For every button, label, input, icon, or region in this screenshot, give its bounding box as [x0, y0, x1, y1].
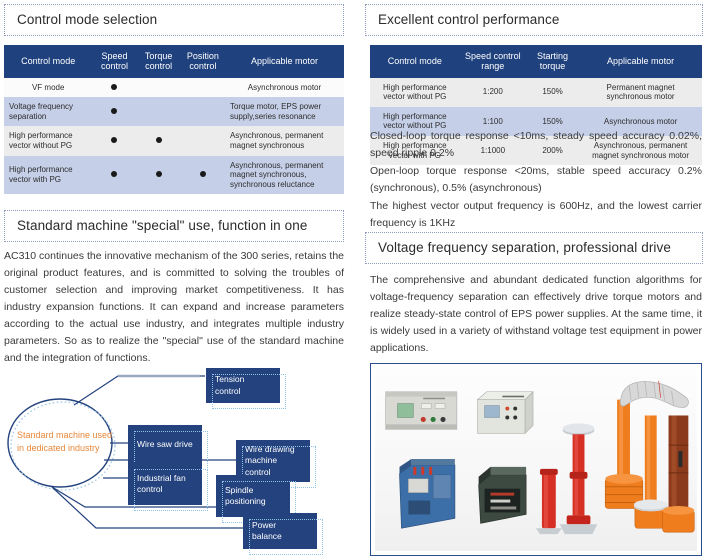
cell-speed	[92, 126, 136, 155]
center-ellipse-label: Standard machine used in dedicated indus…	[17, 429, 113, 455]
portable-tester-icon	[478, 392, 533, 434]
blue-case-unit-icon	[399, 459, 454, 528]
bullet-dot	[111, 137, 117, 143]
control-mode-table-wrap: Control mode Speed control Torque contro…	[4, 45, 344, 194]
table-header-row: Control mode Speed control Torque contro…	[4, 45, 344, 78]
flexible-duct-icon	[620, 381, 688, 408]
red-hv-column-tall-icon	[560, 423, 598, 534]
cell-range: 1:200	[460, 78, 526, 107]
cell-mode: High performance vector without PG	[370, 78, 460, 107]
cell-speed	[92, 97, 136, 126]
node-label: Wire saw drive	[137, 439, 193, 450]
connector-tension	[74, 376, 205, 405]
cell-torque: 150%	[526, 78, 579, 107]
bullet-dot	[111, 84, 117, 90]
cell-motor: Asynchronous motor	[225, 78, 344, 98]
th-torque-control: Torque control	[137, 45, 181, 78]
cell-mode: Voltage frequency separation	[4, 97, 92, 126]
section-title-vf-separation: Voltage frequency separation, profession…	[378, 240, 671, 255]
table-row: VF mode Asynchronous motor	[4, 78, 344, 98]
standard-machine-body: AC310 continues the innovative mechanism…	[4, 248, 344, 367]
bullet-dot	[111, 171, 117, 177]
node-label: Power balance	[252, 520, 308, 543]
bullet-dot	[200, 171, 206, 177]
control-mode-table: Control mode Speed control Torque contro…	[4, 45, 344, 194]
product-photo-collage	[375, 368, 697, 551]
th-applicable-motor: Applicable motor	[225, 45, 344, 78]
accessory-case-icon	[479, 467, 526, 523]
node-label: Spindle positioning	[225, 485, 281, 508]
table-row: High performance vector without PG 1:200…	[370, 78, 702, 107]
table-row: Voltage frequency separation Torque moto…	[4, 97, 344, 126]
orange-hv-column-mid-icon	[634, 415, 668, 528]
product-photo-panel	[370, 363, 702, 556]
section-title-performance: Excellent control performance	[378, 12, 560, 27]
cell-torque	[137, 97, 181, 126]
bullet-dot	[156, 171, 162, 177]
node-label: Tension control	[215, 374, 271, 397]
cell-speed	[92, 78, 136, 98]
node-label: Wire drawing machine control	[245, 444, 301, 478]
cell-torque	[137, 78, 181, 98]
bullet-dot	[156, 137, 162, 143]
cell-motor: Permanent magnet synchronous motor	[579, 78, 702, 107]
table-row: High performance vector with PG Asynchro…	[4, 156, 344, 195]
node-tension-control[interactable]: Tension control	[206, 368, 280, 403]
cell-position	[181, 126, 225, 155]
th-starting-torque: Starting torque	[526, 45, 579, 78]
table-header-row: Control mode Speed control range Startin…	[370, 45, 702, 78]
th-speed-control: Speed control	[92, 45, 136, 78]
section-title-standard-machine: Standard machine "special" use, function…	[17, 218, 307, 233]
th-speed-control-range: Speed control range	[460, 45, 526, 78]
cell-mode: High performance vector with PG	[4, 156, 92, 195]
section-header-control-mode: Control mode selection	[4, 4, 344, 36]
performance-note-2: Open-loop torque response <20ms, stable …	[370, 163, 702, 197]
performance-note-3: The highest vector output frequency is 6…	[370, 198, 702, 232]
section-header-vf-separation: Voltage frequency separation, profession…	[365, 232, 703, 264]
th-position-control: Position control	[181, 45, 225, 78]
vf-separation-body: The comprehensive and abundant dedicated…	[370, 272, 702, 357]
node-wire-saw-drive[interactable]: Wire saw drive	[128, 425, 202, 464]
brown-hv-column-icon	[663, 415, 695, 532]
cell-torque	[137, 156, 181, 195]
cell-position	[181, 156, 225, 195]
node-spindle-positioning[interactable]: Spindle positioning	[216, 475, 290, 517]
test-instrument-icon	[386, 392, 457, 430]
th-applicable-motor: Applicable motor	[579, 45, 702, 78]
performance-notes: Closed-loop torque response <10ms, stead…	[370, 128, 702, 232]
cell-motor: Asynchronous, permanent magnet synchrono…	[225, 126, 344, 155]
th-control-mode: Control mode	[370, 45, 460, 78]
th-control-mode: Control mode	[4, 45, 92, 78]
cell-mode: VF mode	[4, 78, 92, 98]
cell-motor: Asynchronous, permanent magnet synchrono…	[225, 156, 344, 195]
bullet-dot	[111, 108, 117, 114]
equipment-illustrations	[375, 368, 697, 551]
section-title-control-mode: Control mode selection	[17, 12, 157, 27]
node-industrial-fan-control[interactable]: Industrial fan control	[128, 463, 202, 505]
section-header-standard-machine: Standard machine "special" use, function…	[4, 210, 344, 242]
performance-note-1: Closed-loop torque response <10ms, stead…	[370, 128, 702, 162]
cell-position	[181, 97, 225, 126]
node-label: Industrial fan control	[137, 473, 193, 496]
node-power-balance[interactable]: Power balance	[243, 513, 317, 549]
cell-speed	[92, 156, 136, 195]
orange-hv-column-icon	[605, 400, 643, 509]
cell-position	[181, 78, 225, 98]
table-row: High performance vector without PG Async…	[4, 126, 344, 155]
cell-torque	[137, 126, 181, 155]
cell-motor: Torque motor, EPS power supply,series re…	[225, 97, 344, 126]
red-hv-column-small-icon	[536, 469, 562, 534]
industry-application-diagram: Standard machine used in dedicated indus…	[0, 365, 352, 560]
section-header-performance: Excellent control performance	[365, 4, 703, 36]
cell-mode: High performance vector without PG	[4, 126, 92, 155]
